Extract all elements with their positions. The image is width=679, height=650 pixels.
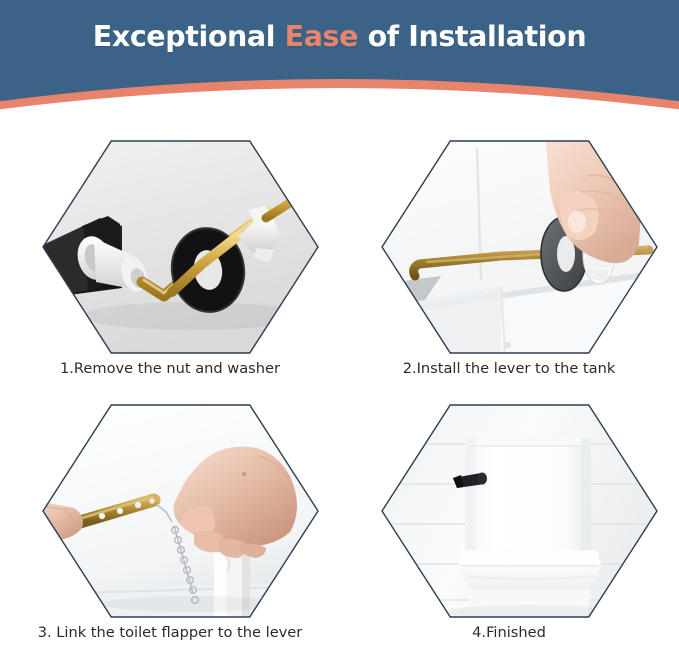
step-1-illustration: [42, 140, 319, 354]
step-1-photo-content: [42, 140, 319, 354]
step-4-illustration: [381, 404, 658, 618]
toilet-tank: [465, 438, 591, 550]
step-2-photo-content: [381, 140, 658, 354]
step-1-hexagon-image: [42, 140, 319, 354]
step-2-caption: 2.Install the lever to the tank: [339, 360, 679, 377]
header-banner: Exceptional Ease of Installation: [0, 0, 679, 122]
page-title-part2: of Installation: [358, 20, 586, 53]
step-card-1: 1.Remove the nut and washer: [0, 126, 340, 386]
step-4-photo-content: [381, 404, 658, 618]
step-3-illustration: [42, 404, 319, 618]
page-title: Exceptional Ease of Installation: [0, 20, 679, 53]
step-card-2: 2.Install the lever to the tank: [339, 126, 679, 386]
step-card-3: 3. Link the toilet flapper to the lever: [0, 390, 340, 650]
step-3-photo-content: [42, 404, 319, 618]
header-background-graphic: [0, 0, 679, 122]
page-title-part1: Exceptional: [93, 20, 285, 53]
step-2-illustration: [381, 140, 658, 354]
step-3-caption: 3. Link the toilet flapper to the lever: [0, 624, 340, 641]
installation-steps-grid: 1.Remove the nut and washer: [0, 122, 679, 644]
page-title-accent: Ease: [285, 20, 358, 53]
step-2-hexagon-image: [381, 140, 658, 354]
step-4-caption: 4.Finished: [339, 624, 679, 641]
step-3-hexagon-image: [42, 404, 319, 618]
step-card-4: 4.Finished: [339, 390, 679, 650]
step-4-hexagon-image: [381, 404, 658, 618]
step-1-caption: 1.Remove the nut and washer: [0, 360, 340, 377]
